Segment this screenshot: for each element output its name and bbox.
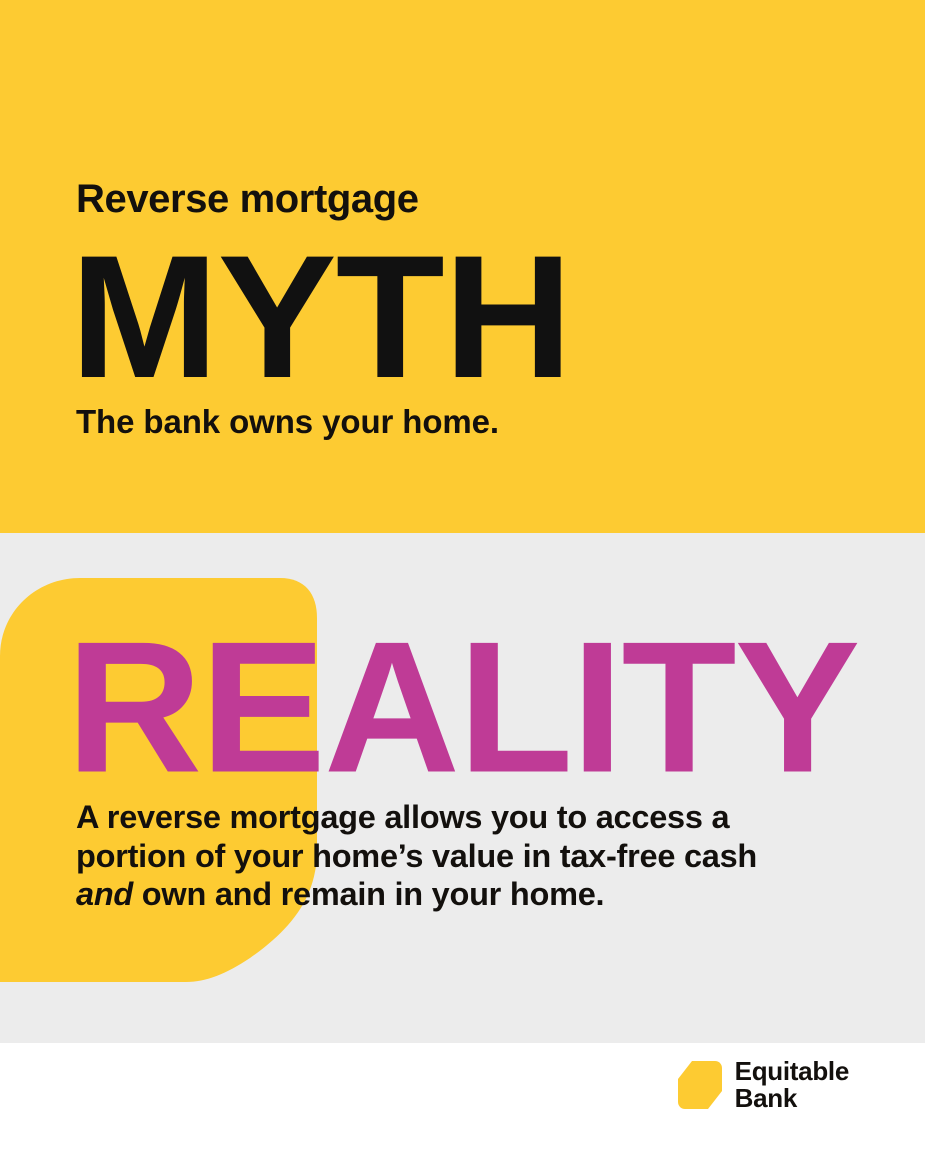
reality-body-emphasis: and	[76, 876, 133, 912]
equitable-bank-wordmark: Equitable Bank	[735, 1058, 849, 1112]
myth-eyebrow: Reverse mortgage	[76, 178, 419, 220]
poster: Reverse mortgage MYTH The bank owns your…	[0, 0, 925, 1156]
myth-headline: MYTH	[70, 232, 572, 404]
reality-body-part2: own and remain in your home.	[133, 876, 604, 912]
brand-line-2: Bank	[735, 1085, 849, 1112]
reality-body-part1: A reverse mortgage allows you to access …	[76, 799, 757, 874]
equitable-bank-logo: Equitable Bank	[678, 1058, 849, 1112]
myth-panel: Reverse mortgage MYTH The bank owns your…	[0, 0, 925, 533]
reality-headline: REALITY	[66, 614, 858, 801]
brand-line-1: Equitable	[735, 1058, 849, 1085]
reality-body: A reverse mortgage allows you to access …	[76, 798, 766, 914]
myth-statement: The bank owns your home.	[76, 404, 499, 440]
equitable-bank-logo-mark-icon	[678, 1061, 722, 1109]
